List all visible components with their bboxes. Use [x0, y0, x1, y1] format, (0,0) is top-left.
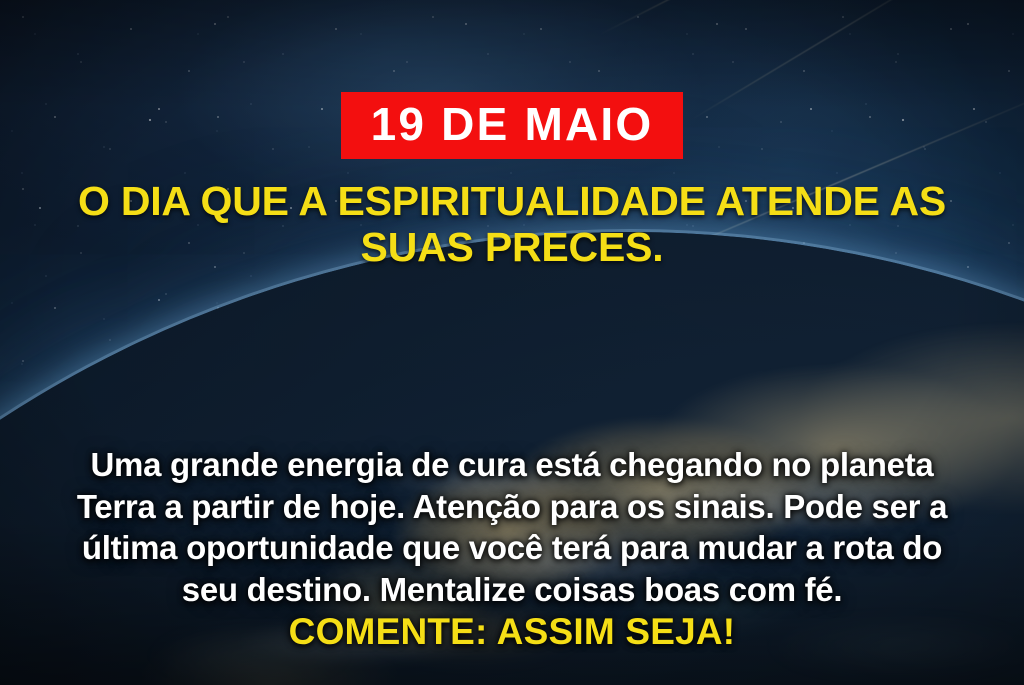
date-banner: 19 DE MAIO [341, 92, 684, 159]
date-banner-text: 19 DE MAIO [371, 101, 654, 147]
call-to-action-text: COMENTE: ASSIM SEJA! [62, 611, 962, 653]
poster-canvas: 19 DE MAIO O DIA QUE A ESPIRITUALIDADE A… [0, 0, 1024, 685]
body-paragraph: Uma grande energia de cura está chegando… [59, 444, 965, 610]
headline-text: O DIA QUE A ESPIRITUALIDADE ATENDE AS SU… [62, 179, 962, 271]
poster-content: 19 DE MAIO O DIA QUE A ESPIRITUALIDADE A… [0, 0, 1024, 685]
